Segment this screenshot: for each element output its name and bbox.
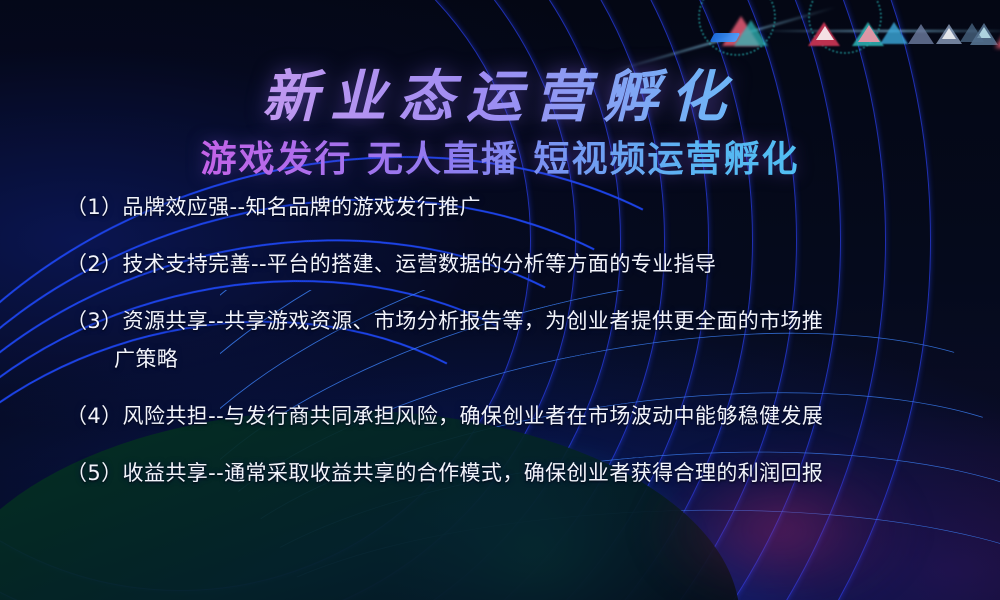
- list-item: （4）风险共担--与发行商共同承担风险，确保创业者在市场波动中能够稳健发展: [66, 401, 978, 431]
- slide-canvas: 新业态运营孵化 游戏发行 无人直播 短视频运营孵化 （1）品牌效应强--知名品牌…: [0, 0, 1000, 600]
- list-item-continuation: 广策略: [66, 344, 978, 374]
- list-item: （1）品牌效应强--知名品牌的游戏发行推广: [66, 192, 978, 222]
- page-title: 新业态运营孵化: [0, 52, 1000, 133]
- blue-chip-flare: [710, 33, 741, 42]
- bullet-list: （1）品牌效应强--知名品牌的游戏发行推广 （2）技术支持完善--平台的搭建、运…: [66, 192, 978, 515]
- list-item: （5）收益共享--通常采取收益共享的合作模式，确保创业者获得合理的利润回报: [66, 458, 978, 488]
- list-item: （3）资源共享--共享游戏资源、市场分析报告等，为创业者提供更全面的市场推: [66, 306, 978, 336]
- triangle-light-flares-decoration: [640, 0, 1000, 60]
- page-subtitle: 游戏发行 无人直播 短视频运营孵化: [0, 130, 1000, 182]
- list-item: （2）技术支持完善--平台的搭建、运营数据的分析等方面的专业指导: [66, 249, 978, 279]
